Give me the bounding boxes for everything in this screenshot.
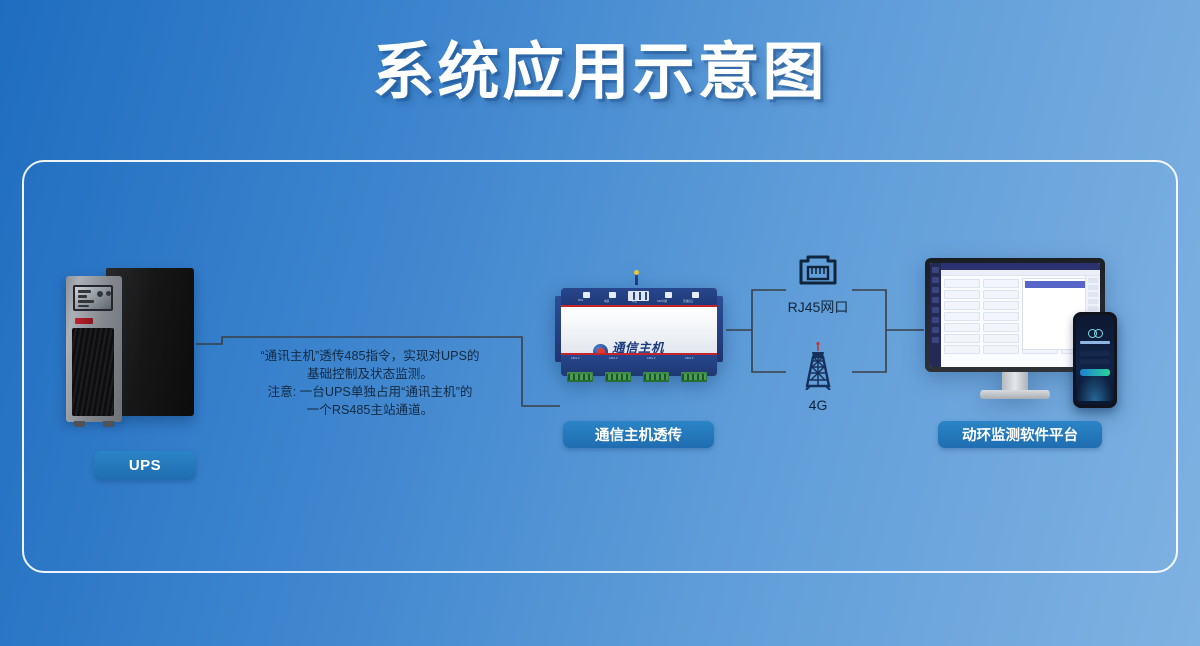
port-label-4: 天线接口 [683, 299, 693, 303]
app-password-field [1080, 359, 1110, 364]
app-decor-graphic [1076, 371, 1114, 401]
port-label-3: SIM卡槽 [657, 299, 667, 303]
rj45-port-icon [796, 252, 840, 288]
note-line-1: “通讯主机”透传485指令，实现对UPS的 [228, 347, 512, 365]
dashboard-topbar [941, 263, 1100, 270]
page-title: 系统应用示意图 [0, 42, 1200, 104]
ups-front-panel [66, 276, 122, 422]
terminal-label-1: A B G V [609, 357, 618, 360]
note-line-3: 注意: 一台UPS单独占用“通讯主机”的 [228, 383, 512, 401]
note-line-2: 基础控制及状态监测。 [228, 365, 512, 383]
cell-tower-icon [796, 342, 840, 390]
communication-host-icon: RS1 电源 网口 SIM卡槽 天线接口 通信主机 RS-TSZJ-100 A … [553, 282, 725, 386]
app-title-bar [1080, 341, 1110, 344]
rj45-node: RJ45网口 [770, 252, 866, 317]
terminal-label-0: A B G V [571, 357, 580, 360]
phone-screen [1076, 315, 1114, 405]
node-label-rj45: RJ45网口 [770, 297, 866, 317]
device-terminal-block: A B G V A B G V A B G V A B G V [561, 353, 717, 376]
monitor-stand-neck [1002, 372, 1028, 392]
antenna-icon [635, 273, 638, 285]
port-label-1: 电源 [604, 299, 609, 303]
note-line-4: 一个RS485主站通道。 [228, 401, 512, 419]
note-text: “通讯主机”透传485指令，实现对UPS的 基础控制及状态监测。 注意: 一台U… [228, 347, 512, 419]
app-logo-icon [1088, 329, 1103, 338]
port-label-0: RS1 [578, 299, 583, 302]
dashboard-sidebar [930, 263, 941, 367]
lte-node: 4G [772, 342, 864, 413]
ups-tower-icon [66, 268, 194, 428]
ups-vent-grille [72, 328, 114, 416]
monitor-and-phone-icon [925, 258, 1115, 410]
port-label-2: 网口 [632, 299, 637, 303]
node-label-gateway: 通信主机透传 [563, 421, 714, 448]
terminal-label-3: A B G V [685, 357, 694, 360]
smartphone [1073, 312, 1117, 408]
node-label-lte: 4G [772, 397, 864, 413]
monitor-stand-base [980, 390, 1050, 399]
device-face: 通信主机 RS-TSZJ-100 [561, 307, 717, 353]
ups-brand-logo [75, 318, 93, 324]
terminal-label-2: A B G V [647, 357, 656, 360]
app-username-field [1080, 351, 1110, 356]
ups-display-icon [73, 285, 113, 311]
device-top-ports: RS1 电源 网口 SIM卡槽 天线接口 [561, 288, 717, 307]
node-label-ups: UPS [94, 451, 196, 480]
node-label-platform: 动环监测软件平台 [938, 421, 1102, 448]
